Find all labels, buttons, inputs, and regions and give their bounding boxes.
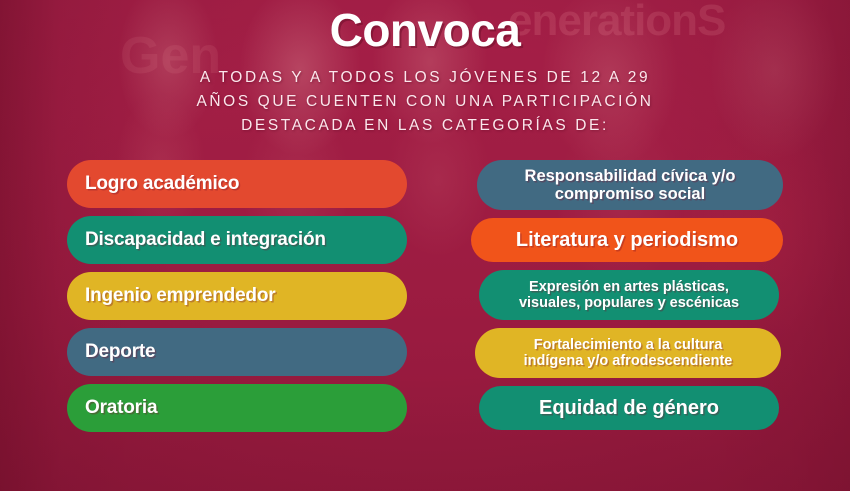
poster-header: Convoca A TODAS Y A TODOS LOS JÓVENES DE…	[0, 0, 850, 138]
category-label-line: compromiso social	[555, 185, 705, 203]
category-label-line: Responsabilidad cívica y/o	[525, 167, 736, 185]
category-label: Deporte	[85, 341, 155, 363]
category-pill-ingenio-emprendedor[interactable]: Ingenio emprendedor	[67, 272, 407, 320]
category-label-line: Fortalecimiento a la cultura	[534, 337, 723, 353]
category-pill-equidad-de-genero[interactable]: Equidad de género	[479, 386, 779, 430]
category-label: Equidad de género	[539, 397, 719, 419]
category-label-line: Expresión en artes plásticas,	[529, 279, 729, 295]
category-column-left: Logro académico Discapacidad e integraci…	[67, 160, 407, 440]
category-label: Discapacidad e integración	[85, 229, 326, 251]
poster-subtitle: A TODAS Y A TODOS LOS JÓVENES DE 12 A 29…	[0, 66, 850, 138]
category-label-line: indígena y/o afrodescendiente	[524, 353, 733, 369]
category-pill-discapacidad-e-integracion[interactable]: Discapacidad e integración	[67, 216, 407, 264]
category-pill-oratoria[interactable]: Oratoria	[67, 384, 407, 432]
category-pill-literatura-y-periodismo[interactable]: Literatura y periodismo	[471, 218, 783, 262]
subtitle-line-2: AÑOS QUE CUENTEN CON UNA PARTICIPACIÓN	[0, 90, 850, 114]
category-label: Expresión en artes plásticas, visuales, …	[519, 279, 739, 311]
subtitle-line-1: A TODAS Y A TODOS LOS JÓVENES DE 12 A 29	[0, 66, 850, 90]
poster-title: Convoca	[0, 6, 850, 54]
category-column-right: Responsabilidad cívica y/o compromiso so…	[471, 160, 783, 440]
category-label: Oratoria	[85, 397, 157, 419]
category-label: Responsabilidad cívica y/o compromiso so…	[525, 167, 736, 204]
category-pill-deporte[interactable]: Deporte	[67, 328, 407, 376]
category-pill-expresion-en-artes[interactable]: Expresión en artes plásticas, visuales, …	[479, 270, 779, 320]
category-label: Ingenio emprendedor	[85, 285, 275, 307]
poster-canvas: Gen enerationS Convoca A TODAS Y A TODOS…	[0, 0, 850, 491]
category-pill-fortalecimiento-cultura[interactable]: Fortalecimiento a la cultura indígena y/…	[475, 328, 781, 378]
category-columns: Logro académico Discapacidad e integraci…	[0, 160, 850, 440]
category-label: Logro académico	[85, 173, 239, 195]
category-label-line: visuales, populares y escénicas	[519, 295, 739, 311]
category-label: Fortalecimiento a la cultura indígena y/…	[524, 337, 733, 369]
category-label: Literatura y periodismo	[516, 229, 738, 251]
category-pill-logro-academico[interactable]: Logro académico	[67, 160, 407, 208]
category-pill-responsabilidad-civica[interactable]: Responsabilidad cívica y/o compromiso so…	[477, 160, 783, 210]
subtitle-line-3: DESTACADA EN LAS CATEGORÍAS DE:	[0, 114, 850, 138]
